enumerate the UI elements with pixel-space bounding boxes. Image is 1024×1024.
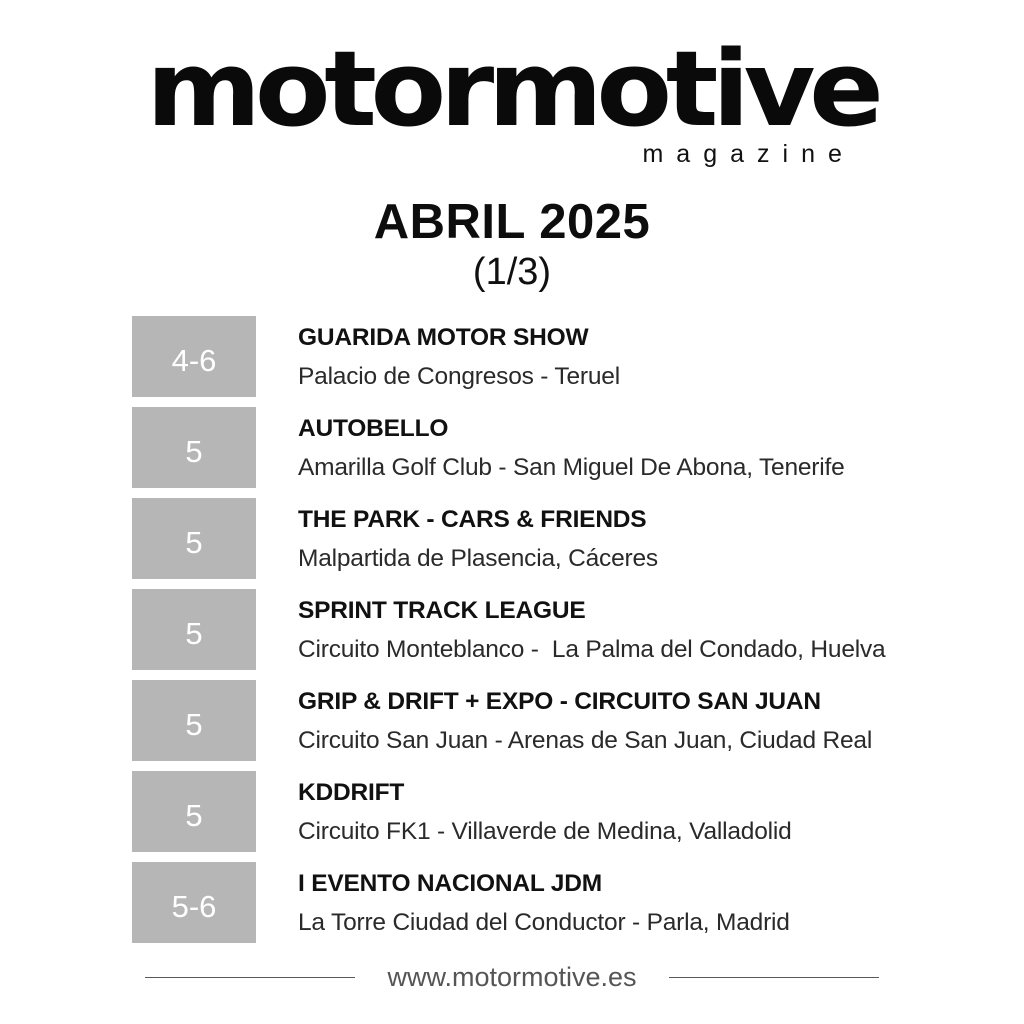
logo-wordmark: motormotive [146,42,877,138]
event-date-badge: 5 [132,407,256,488]
footer: www.motormotive.es [0,962,1024,993]
event-name: I EVENTO NACIONAL JDM [298,871,952,898]
event-details: THE PARK - CARS & FRIENDSMalpartida de P… [298,498,952,573]
event-name: GRIP & DRIFT + EXPO - CIRCUITO SAN JUAN [298,689,952,716]
event-venue: Amarilla Golf Club - San Miguel De Abona… [298,455,952,482]
page-title: ABRIL 2025 [0,197,1024,248]
event-date-badge: 5-6 [132,862,256,943]
event-details: I EVENTO NACIONAL JDMLa Torre Ciudad del… [298,862,952,937]
event-details: KDDRIFTCircuito FK1 - Villaverde de Medi… [298,771,952,846]
event-date-label: 5 [185,800,202,831]
masthead: motormotive magazine [0,42,1024,169]
event-row: 5THE PARK - CARS & FRIENDSMalpartida de … [132,498,952,579]
brand-logo: motormotive magazine [167,42,857,169]
event-details: GUARIDA MOTOR SHOWPalacio de Congresos -… [298,316,952,391]
footer-divider-left [145,977,355,978]
page-counter: (1/3) [0,250,1024,296]
event-venue: Malpartida de Plasencia, Cáceres [298,546,952,573]
event-row: 5-6I EVENTO NACIONAL JDMLa Torre Ciudad … [132,862,952,943]
event-row: 5AUTOBELLOAmarilla Golf Club - San Migue… [132,407,952,488]
event-date-badge: 5 [132,498,256,579]
event-date-label: 4-6 [172,345,217,376]
title-block: ABRIL 2025 (1/3) [0,197,1024,296]
event-name: THE PARK - CARS & FRIENDS [298,507,952,534]
event-name: KDDRIFT [298,780,952,807]
event-date-badge: 4-6 [132,316,256,397]
event-name: SPRINT TRACK LEAGUE [298,598,952,625]
event-row: 5SPRINT TRACK LEAGUECircuito Monteblanco… [132,589,952,670]
event-venue: Circuito FK1 - Villaverde de Medina, Val… [298,819,952,846]
event-date-label: 5 [185,709,202,740]
event-list: 4-6GUARIDA MOTOR SHOWPalacio de Congreso… [132,316,952,953]
event-venue: La Torre Ciudad del Conductor - Parla, M… [298,910,952,937]
event-date-label: 5 [185,436,202,467]
event-row: 5KDDRIFTCircuito FK1 - Villaverde de Med… [132,771,952,852]
event-date-label: 5 [185,618,202,649]
event-details: AUTOBELLOAmarilla Golf Club - San Miguel… [298,407,952,482]
event-details: SPRINT TRACK LEAGUECircuito Monteblanco … [298,589,952,664]
event-date-badge: 5 [132,771,256,852]
event-venue: Palacio de Congresos - Teruel [298,364,952,391]
event-date-label: 5 [185,527,202,558]
footer-divider-right [669,977,879,978]
event-name: GUARIDA MOTOR SHOW [298,325,952,352]
event-venue: Circuito Monteblanco - La Palma del Cond… [298,637,952,664]
footer-website-url[interactable]: www.motormotive.es [387,962,636,993]
event-details: GRIP & DRIFT + EXPO - CIRCUITO SAN JUANC… [298,680,952,755]
event-date-badge: 5 [132,589,256,670]
event-date-label: 5-6 [172,891,217,922]
event-name: AUTOBELLO [298,416,952,443]
event-row: 5GRIP & DRIFT + EXPO - CIRCUITO SAN JUAN… [132,680,952,761]
event-date-badge: 5 [132,680,256,761]
event-row: 4-6GUARIDA MOTOR SHOWPalacio de Congreso… [132,316,952,397]
event-venue: Circuito San Juan - Arenas de San Juan, … [298,728,952,755]
poster-page: motormotive magazine ABRIL 2025 (1/3) 4-… [0,0,1024,1024]
